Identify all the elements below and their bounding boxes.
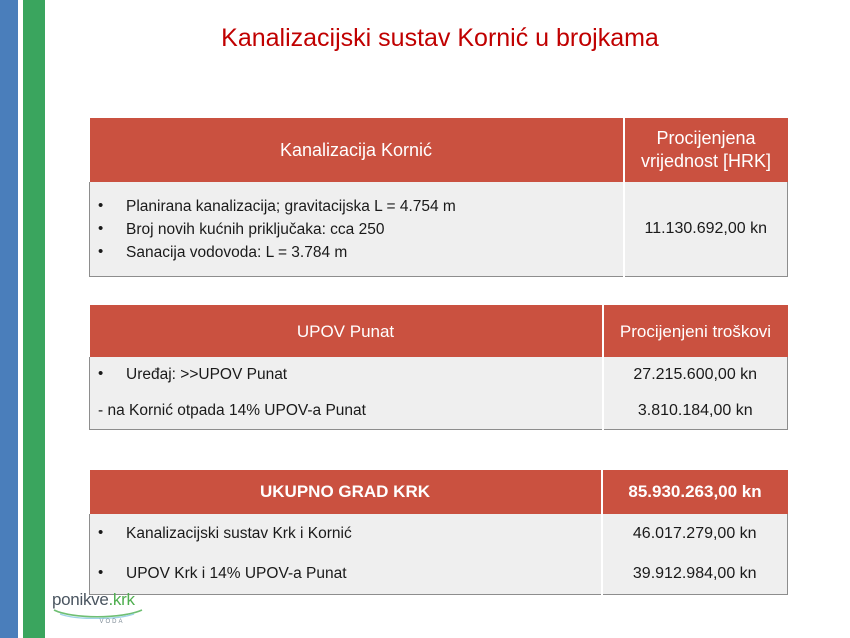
table-kanalizacija-kornic: Kanalizacija Kornić Procijenjena vrijedn…: [89, 118, 788, 277]
list-item: Uređaj: >>UPOV Punat: [90, 364, 602, 386]
list-item: Planirana kanalizacija; gravitacijska L …: [90, 195, 623, 218]
ponikve-krk-logo: ponikve.krk VODA: [52, 590, 172, 630]
table-row: Planirana kanalizacija; gravitacijska L …: [90, 182, 788, 277]
table1-bullet-list: Planirana kanalizacija; gravitacijska L …: [90, 195, 623, 264]
table2-bullet-list-0: Uređaj: >>UPOV Punat: [90, 364, 602, 386]
table3-header-left: UKUPNO GRAD KRK: [90, 470, 602, 514]
logo-name-tld: .krk: [109, 590, 135, 609]
table-row: UPOV Krk i 14% UPOV-a Punat 39.912.984,0…: [90, 554, 788, 595]
decorative-stripe-green: [23, 0, 45, 638]
table3-header-total: 85.930.263,00 kn: [602, 470, 788, 514]
logo-wordmark: ponikve.krk: [52, 590, 172, 609]
list-item: Kanalizacijski sustav Krk i Kornić: [90, 523, 601, 545]
table-row: Kanalizacijski sustav Krk i Kornić 46.01…: [90, 514, 788, 554]
table2-row-value-1: 3.810.184,00 kn: [603, 393, 788, 430]
table2-row-label-1: - na Kornić otpada 14% UPOV-a Punat: [90, 393, 603, 430]
table3-row-value-0: 46.017.279,00 kn: [602, 514, 788, 554]
list-item: - na Kornić otpada 14% UPOV-a Punat: [90, 400, 602, 422]
table-row-header: UPOV Punat Procijenjeni troškovi: [90, 305, 788, 357]
list-item: Sanacija vodovoda: L = 3.784 m: [90, 241, 623, 264]
table3-row-label-0: Kanalizacijski sustav Krk i Kornić: [90, 514, 602, 554]
logo-subtitle: VODA: [52, 619, 172, 625]
table2-row-label-0: Uređaj: >>UPOV Punat: [90, 357, 603, 393]
logo-name-main: ponikve: [52, 590, 109, 609]
table-ukupno-grad-krk: UKUPNO GRAD KRK 85.930.263,00 kn Kanaliz…: [89, 470, 788, 595]
table-upov-punat: UPOV Punat Procijenjeni troškovi Uređaj:…: [89, 305, 788, 430]
table3-bullet-list-0: Kanalizacijski sustav Krk i Kornić: [90, 523, 601, 545]
table1-header-right: Procijenjena vrijednost [HRK]: [624, 118, 788, 182]
table2-header-right: Procijenjeni troškovi: [603, 305, 788, 357]
table2-row-value-0: 27.215.600,00 kn: [603, 357, 788, 393]
table-row-header: Kanalizacija Kornić Procijenjena vrijedn…: [90, 118, 788, 182]
table-row-header: UKUPNO GRAD KRK 85.930.263,00 kn: [90, 470, 788, 514]
logo-swoosh-icon: [52, 608, 144, 619]
table2-bullet-list-1: - na Kornić otpada 14% UPOV-a Punat: [90, 400, 602, 422]
table-row: - na Kornić otpada 14% UPOV-a Punat 3.81…: [90, 393, 788, 430]
list-item: UPOV Krk i 14% UPOV-a Punat: [90, 563, 601, 585]
slide-canvas: Kanalizacijski sustav Kornić u brojkama …: [0, 0, 850, 638]
table1-body-left: Planirana kanalizacija; gravitacijska L …: [90, 182, 624, 277]
table3-bullet-list-1: UPOV Krk i 14% UPOV-a Punat: [90, 563, 601, 585]
page-title: Kanalizacijski sustav Kornić u brojkama: [60, 22, 820, 54]
table3-row-label-1: UPOV Krk i 14% UPOV-a Punat: [90, 554, 602, 595]
list-item: Broj novih kućnih priključaka: cca 250: [90, 218, 623, 241]
table2-header-left: UPOV Punat: [90, 305, 603, 357]
table1-header-left: Kanalizacija Kornić: [90, 118, 624, 182]
table3-row-value-1: 39.912.984,00 kn: [602, 554, 788, 595]
decorative-stripe-blue: [0, 0, 18, 638]
table-row: Uređaj: >>UPOV Punat 27.215.600,00 kn: [90, 357, 788, 393]
table1-value: 11.130.692,00 kn: [624, 182, 788, 277]
